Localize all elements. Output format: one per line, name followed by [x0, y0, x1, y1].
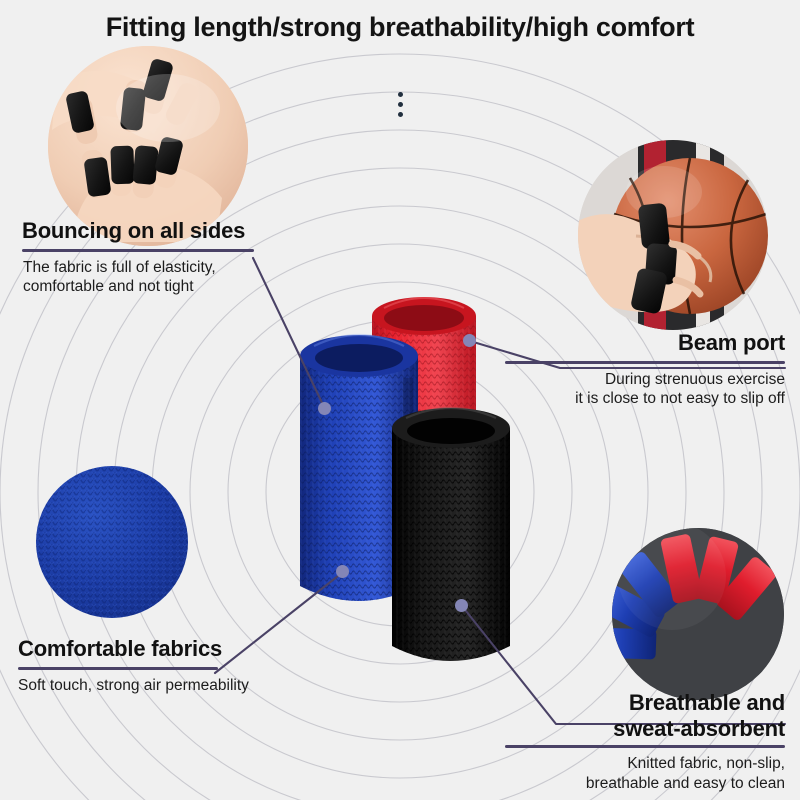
callout-beam-port: Beam port During strenuous exercise it i… [505, 330, 785, 409]
callout-beam-port-body-line1: During strenuous exercise [505, 370, 785, 390]
callout-comfortable-fabrics-rule [18, 667, 218, 670]
callout-dot-comfortable-fabrics [336, 565, 349, 578]
callout-comfortable-fabrics-body-line1: Soft touch, strong air permeability [18, 676, 249, 696]
callout-breathable-body-line2: breathable and easy to clean [505, 774, 785, 794]
callout-comfortable-fabrics: Comfortable fabrics Soft touch, strong a… [18, 636, 249, 695]
vertical-ellipsis-icon [395, 92, 405, 122]
callout-beam-port-rule [505, 361, 785, 364]
callout-breathable: Breathable and sweat-absorbent Knitted f… [505, 690, 785, 793]
callout-dot-bouncing [318, 402, 331, 415]
callout-beam-port-body-line2: it is close to not easy to slip off [505, 389, 785, 409]
photo-hands-with-finger-sleeves [48, 46, 248, 246]
callout-bouncing: Bouncing on all sides The fabric is full… [22, 218, 254, 297]
photo-sleeve-fan-display [612, 528, 784, 700]
callout-breathable-heading-line1: Breathable and [505, 690, 785, 716]
callout-bouncing-heading: Bouncing on all sides [22, 218, 254, 244]
callout-dot-breathable [455, 599, 468, 612]
callout-breathable-heading-line2: sweat-absorbent [505, 716, 785, 742]
page-title: Fitting length/strong breathability/high… [0, 12, 800, 43]
callout-bouncing-body-line2: comfortable and not tight [23, 277, 254, 297]
callout-breathable-rule [505, 745, 785, 748]
callout-beam-port-heading: Beam port [505, 330, 785, 356]
black-sleeve [392, 408, 510, 661]
photo-blue-knit-macro [36, 466, 188, 618]
callout-comfortable-fabrics-heading: Comfortable fabrics [18, 636, 249, 662]
callout-bouncing-body-line1: The fabric is full of elasticity, [23, 258, 254, 278]
callout-dot-beam-port [463, 334, 476, 347]
infographic-canvas: Fitting length/strong breathability/high… [0, 0, 800, 800]
photo-basketball-grip [578, 140, 768, 330]
callout-breathable-body-line1: Knitted fabric, non-slip, [505, 754, 785, 774]
callout-bouncing-rule [22, 249, 254, 252]
